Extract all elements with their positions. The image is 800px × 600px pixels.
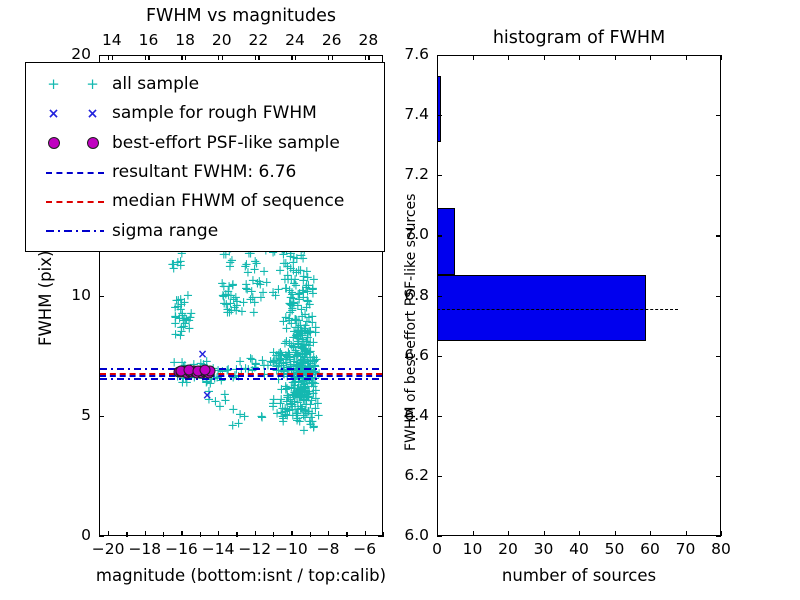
x-tick-top <box>222 55 223 60</box>
y-tick-left-hist <box>437 416 442 417</box>
y-tick-left <box>99 536 104 537</box>
scatter-point-all-sample: + <box>308 381 319 394</box>
x-tick-label-hist: 50 <box>605 542 625 558</box>
x-tick-label-top: 16 <box>139 33 159 49</box>
histogram-median-line <box>438 309 678 310</box>
y-tick-right-hist <box>716 416 721 417</box>
x-tick-bottom <box>145 531 146 536</box>
x-tick-top-mirror <box>255 55 256 60</box>
y-tick-left-hist <box>437 115 442 116</box>
y-tick-label: 10 <box>71 288 91 304</box>
x-tick-label-top: 18 <box>175 33 195 49</box>
y-tick-right-hist <box>716 55 721 56</box>
x-tick-label-hist: 60 <box>640 542 660 558</box>
y-tick-left <box>99 416 104 417</box>
y-tick-left-hist <box>437 55 442 56</box>
y-tick-label: 0 <box>81 528 91 544</box>
y-tick-label-hist: 6.6 <box>404 348 429 364</box>
x-tick-top <box>332 55 333 60</box>
scatter-point-all-sample: + <box>307 287 318 300</box>
legend-item: ××sample for rough FWHM <box>26 99 384 128</box>
x-tick-label-hist: 30 <box>534 542 554 558</box>
legend-symbol: ++ <box>26 77 112 92</box>
x-tick-bottom-hist <box>579 531 580 536</box>
x-tick-label-bottom: −8 <box>317 542 340 558</box>
scatter-point-psf-like-sample <box>200 365 211 376</box>
y-tick-label-hist: 7.0 <box>404 227 429 243</box>
dashed-blue-line-icon <box>46 172 104 174</box>
x-tick-bottom <box>108 531 109 536</box>
x-tick-label-bottom: −6 <box>353 542 376 558</box>
legend-item-label: sample for rough FWHM <box>112 105 317 122</box>
x-tick-top-mirror <box>181 55 182 60</box>
x-tick-bottom <box>255 531 256 536</box>
resultant-fwhm-line <box>100 375 382 377</box>
legend-symbol <box>26 172 112 174</box>
scatter-point-all-sample: + <box>233 418 244 431</box>
y-tick-left-hist <box>437 296 442 297</box>
x-tick-label-top: 22 <box>249 33 269 49</box>
y-tick-label-hist: 6.4 <box>404 408 429 424</box>
y-tick-right-hist <box>716 175 721 176</box>
x-tick-top-hist <box>721 55 722 60</box>
scatter-point-all-sample: + <box>231 300 242 313</box>
scatter-point-all-sample: + <box>170 328 181 341</box>
dashdot-blue-line-icon <box>46 230 104 232</box>
x-tick-label-bottom: −18 <box>128 542 161 558</box>
x-tick-top-hist <box>615 55 616 60</box>
x-tick-label-bottom: −12 <box>238 542 271 558</box>
y-tick-right-mirror <box>378 296 383 297</box>
scatter-point-all-sample: + <box>304 325 315 338</box>
left-panel-title: FWHM vs magnitudes <box>146 8 336 26</box>
y-tick-left-hist <box>437 536 442 537</box>
x-tick-top-hist <box>686 55 687 60</box>
scatter-point-all-sample: + <box>219 388 230 401</box>
y-tick-right-hist <box>716 476 721 477</box>
y-tick-left-hist <box>437 476 442 477</box>
x-minor-tick-bottom <box>200 532 201 537</box>
x-tick-top-hist <box>544 55 545 60</box>
x-minor-tick-bottom <box>383 532 384 537</box>
y-tick-label-hist: 7.2 <box>404 167 429 183</box>
x-tick-top-mirror <box>328 55 329 60</box>
figure-canvas: FWHM vs magnitudes FWHM (pix) magnitude … <box>0 0 800 600</box>
scatter-point-all-sample: + <box>248 306 259 319</box>
legend-item-label: resultant FWHM: 6.76 <box>112 164 296 181</box>
scatter-point-all-sample: + <box>287 410 298 423</box>
scatter-point-all-sample: + <box>298 270 309 283</box>
x-tick-bottom-hist <box>473 531 474 536</box>
legend-symbol <box>26 230 112 232</box>
sigma-range-lower-line <box>100 378 382 380</box>
median-fwhm-line <box>100 373 382 375</box>
scatter-point-all-sample: + <box>235 355 246 368</box>
left-panel-x-axis-label: magnitude (bottom:isnt / top:calib) <box>96 568 386 585</box>
y-tick-right-hist <box>716 115 721 116</box>
x-tick-label-bottom: −10 <box>275 542 308 558</box>
dashed-red-line-icon <box>46 201 104 203</box>
x-tick-top-hist <box>650 55 651 60</box>
plus-marker-icon: + <box>47 77 60 92</box>
y-tick-right-hist <box>716 296 721 297</box>
y-tick-label-hist: 7.4 <box>404 107 429 123</box>
x-tick-bottom-hist <box>615 531 616 536</box>
legend-symbol <box>26 137 112 149</box>
x-tick-top-hist <box>508 55 509 60</box>
y-tick-label: 5 <box>81 408 91 424</box>
x-minor-tick-bottom <box>346 532 347 537</box>
scatter-point-all-sample: + <box>303 406 314 419</box>
x-tick-top-mirror <box>365 55 366 60</box>
scatter-point-all-sample: + <box>179 312 190 325</box>
y-tick-left-hist <box>437 175 442 176</box>
scatter-point-rough-fwhm: × <box>197 348 207 360</box>
x-minor-tick-bottom <box>126 532 127 537</box>
x-tick-label-top: 14 <box>102 33 122 49</box>
y-tick-label-hist: 6.8 <box>404 288 429 304</box>
x-tick-top <box>368 55 369 60</box>
y-tick-right-hist <box>716 356 721 357</box>
scatter-point-all-sample: + <box>256 410 267 423</box>
scatter-point-all-sample: + <box>308 421 319 434</box>
right-panel-x-axis-label: number of sources <box>502 568 656 585</box>
x-tick-top <box>295 55 296 60</box>
y-tick-left-hist <box>437 235 442 236</box>
legend-item: sigma range <box>26 217 384 246</box>
scatter-point-all-sample: + <box>228 404 239 417</box>
x-minor-tick-bottom <box>163 532 164 537</box>
x-tick-top <box>185 55 186 60</box>
x-tick-label-hist: 20 <box>498 542 518 558</box>
histogram-bar <box>438 275 646 341</box>
cross-marker-icon: × <box>87 107 99 121</box>
scatter-point-all-sample: + <box>257 355 268 368</box>
legend-item: best-effort PSF-like sample <box>26 129 384 158</box>
x-tick-bottom-hist <box>721 531 722 536</box>
y-tick-right-mirror <box>378 416 383 417</box>
legend-item: median FHWM of sequence <box>26 187 384 216</box>
x-minor-tick-bottom <box>236 532 237 537</box>
histogram-bar <box>438 208 455 274</box>
scatter-point-all-sample: + <box>219 298 230 311</box>
x-tick-bottom <box>181 531 182 536</box>
histogram-data-layer <box>438 56 720 535</box>
histogram-bar <box>438 76 441 142</box>
x-tick-bottom-hist <box>686 531 687 536</box>
sigma-range-upper-line <box>100 368 382 370</box>
y-tick-right-hist <box>716 536 721 537</box>
legend-item: resultant FWHM: 6.76 <box>26 158 384 187</box>
y-tick-left-hist <box>437 356 442 357</box>
left-panel-y-axis-label: FWHM (pix) <box>38 250 55 345</box>
y-tick-left <box>99 55 104 56</box>
legend-item-label: sigma range <box>112 223 218 240</box>
x-tick-label-top: 24 <box>285 33 305 49</box>
legend-symbol: ×× <box>26 107 112 121</box>
scatter-point-all-sample: + <box>301 301 312 314</box>
x-tick-top <box>258 55 259 60</box>
x-tick-top-hist <box>473 55 474 60</box>
scatter-point-all-sample: + <box>271 349 282 362</box>
scatter-point-all-sample: + <box>288 331 299 344</box>
legend-item-label: all sample <box>112 76 199 93</box>
circle-marker-icon <box>87 137 99 149</box>
x-tick-label-hist: 10 <box>463 542 483 558</box>
y-tick-left <box>99 296 104 297</box>
x-tick-bottom <box>328 531 329 536</box>
scatter-point-all-sample: + <box>179 297 190 310</box>
x-tick-label-hist: 70 <box>676 542 696 558</box>
x-tick-label-bottom: −20 <box>92 542 125 558</box>
x-tick-label-hist: 80 <box>711 542 731 558</box>
scatter-point-rough-fwhm: × <box>202 389 212 401</box>
x-minor-tick-bottom <box>273 532 274 537</box>
x-tick-label-hist: 0 <box>432 542 442 558</box>
x-tick-top <box>112 55 113 60</box>
scatter-point-all-sample: + <box>255 279 266 292</box>
x-tick-label-bottom: −14 <box>202 542 235 558</box>
x-tick-bottom-hist <box>650 531 651 536</box>
x-tick-top-mirror <box>108 55 109 60</box>
x-tick-label-top: 28 <box>358 33 378 49</box>
x-tick-top-mirror <box>145 55 146 60</box>
y-tick-label: 20 <box>71 47 91 63</box>
legend-item: ++all sample <box>26 70 384 99</box>
x-tick-bottom <box>365 531 366 536</box>
x-tick-label-hist: 40 <box>569 542 589 558</box>
right-panel-title: histogram of FWHM <box>493 30 665 48</box>
legend-item-label: median FHWM of sequence <box>112 193 344 210</box>
plus-marker-icon: + <box>86 77 99 92</box>
x-tick-label-top: 26 <box>322 33 342 49</box>
y-tick-right-mirror <box>378 536 383 537</box>
y-tick-right-hist <box>716 235 721 236</box>
legend-symbol <box>26 201 112 203</box>
scatter-point-all-sample: + <box>247 291 258 304</box>
scatter-point-all-sample: + <box>288 298 299 311</box>
legend-item-label: best-effort PSF-like sample <box>112 135 340 152</box>
x-tick-bottom-hist <box>544 531 545 536</box>
x-tick-top-mirror <box>291 55 292 60</box>
cross-marker-icon: × <box>48 107 60 121</box>
scatter-point-all-sample: + <box>291 349 302 362</box>
legend: ++all sample××sample for rough FWHMbest-… <box>25 62 385 252</box>
x-tick-top-mirror <box>218 55 219 60</box>
y-tick-right-mirror <box>378 55 383 56</box>
y-tick-label-hist: 7.6 <box>404 47 429 63</box>
x-tick-bottom <box>291 531 292 536</box>
x-tick-bottom-hist <box>508 531 509 536</box>
y-tick-label-hist: 6.0 <box>404 528 429 544</box>
x-minor-tick-bottom <box>310 532 311 537</box>
scatter-point-all-sample: + <box>278 315 289 328</box>
x-tick-bottom <box>218 531 219 536</box>
x-tick-label-bottom: −16 <box>165 542 198 558</box>
x-tick-top-hist <box>579 55 580 60</box>
x-tick-top <box>148 55 149 60</box>
circle-marker-icon <box>48 137 60 149</box>
y-tick-label-hist: 6.2 <box>404 468 429 484</box>
x-tick-label-top: 20 <box>212 33 232 49</box>
